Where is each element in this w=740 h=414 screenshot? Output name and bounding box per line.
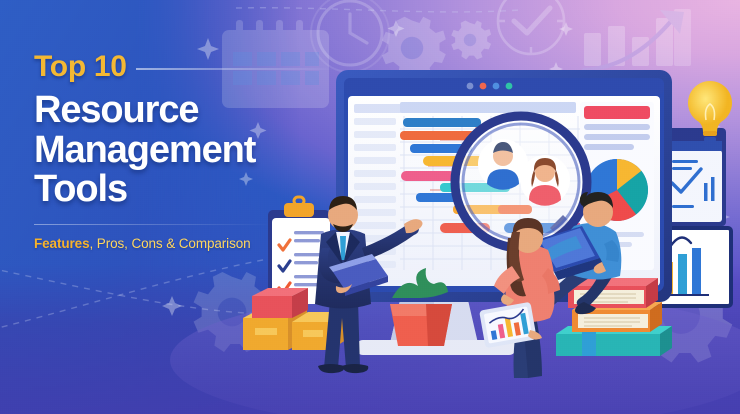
texture-overlay xyxy=(0,0,740,414)
banner-canvas: Top 10 Resource Management Tools Feature… xyxy=(0,0,740,414)
